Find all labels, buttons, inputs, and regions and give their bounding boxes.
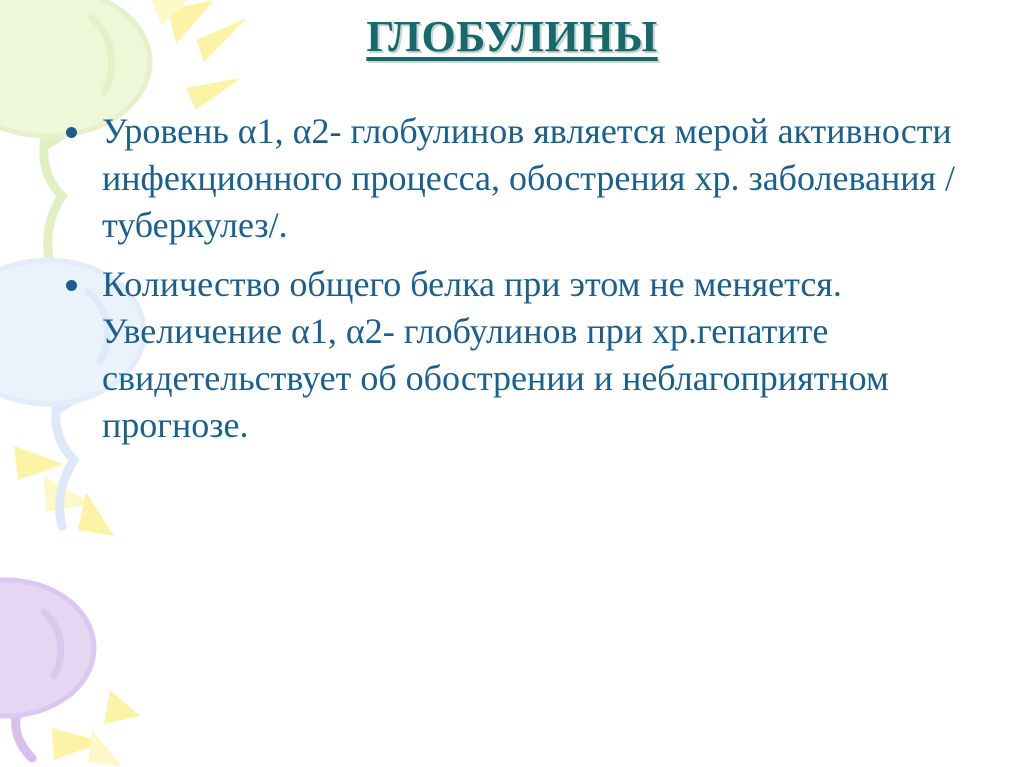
slide-title: ГЛОБУЛИНЫ xyxy=(0,14,1024,60)
sunburst-rays-blue xyxy=(14,446,114,536)
sunburst-rays-purple xyxy=(52,690,140,766)
slide-title-text: ГЛОБУЛИНЫ xyxy=(366,14,657,60)
balloon-purple-group xyxy=(0,580,140,766)
bullet-list-item: Уровень α1, α2- глобулинов является меро… xyxy=(52,108,982,249)
bullet-item-text: Количество общего белка при этом не меня… xyxy=(102,261,982,449)
slide-canvas: ГЛОБУЛИНЫ Уровень α1, α2- глобулинов явл… xyxy=(0,0,1024,767)
slide-body: Уровень α1, α2- глобулинов является меро… xyxy=(52,108,982,449)
bullet-dot-icon xyxy=(66,280,77,291)
bullet-list-item: Количество общего белка при этом не меня… xyxy=(52,261,982,449)
bullet-item-text: Уровень α1, α2- глобулинов является меро… xyxy=(102,108,982,249)
bullet-dot-icon xyxy=(66,127,77,138)
